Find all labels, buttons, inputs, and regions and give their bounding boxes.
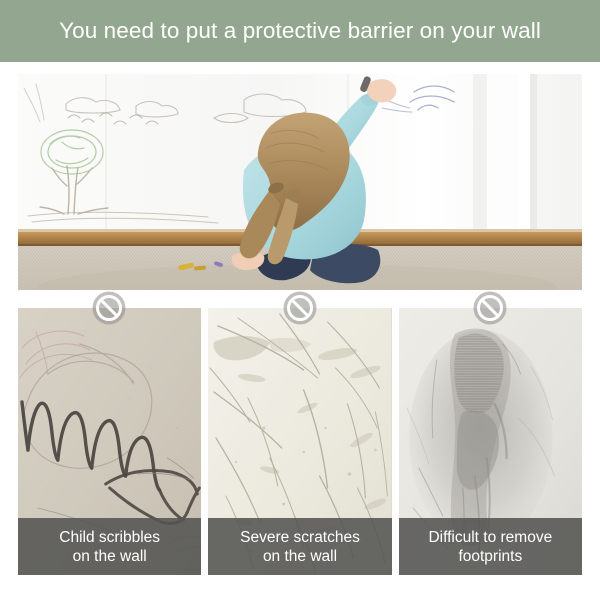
caption-line-2: on the wall [73,547,147,566]
page-title: You need to put a protective barrier on … [59,20,541,43]
prohibition-icon-1 [92,291,126,325]
prohibition-icon [473,291,507,325]
caption-line-1: Difficult to remove [428,528,552,547]
caption-line-2: on the wall [263,547,337,566]
panel-difficult-footprints[interactable]: Difficult to remove footprints [399,308,582,575]
prohibition-icon [92,291,126,325]
panel-caption-child-scribbles: Child scribbles on the wall [18,518,201,575]
caption-line-1: Severe scratches [240,528,360,547]
panel-child-scribbles[interactable]: Child scribbles on the wall [18,308,201,575]
hero-photo [18,74,582,290]
caption-line-1: Child scribbles [59,528,160,547]
damage-panel-row: Child scribbles on the wall [18,308,582,575]
hero-illustration [18,74,582,290]
header-banner: You need to put a protective barrier on … [0,0,600,62]
prohibition-icon-2 [283,291,317,325]
panel-caption-severe-scratches: Severe scratches on the wall [208,518,391,575]
caption-line-2: footprints [458,547,522,566]
prohibition-icon [283,291,317,325]
panel-caption-difficult-footprints: Difficult to remove footprints [399,518,582,575]
prohibition-icon-3 [473,291,507,325]
panel-severe-scratches[interactable]: Severe scratches on the wall [208,308,391,575]
promo-page: You need to put a protective barrier on … [0,0,600,600]
